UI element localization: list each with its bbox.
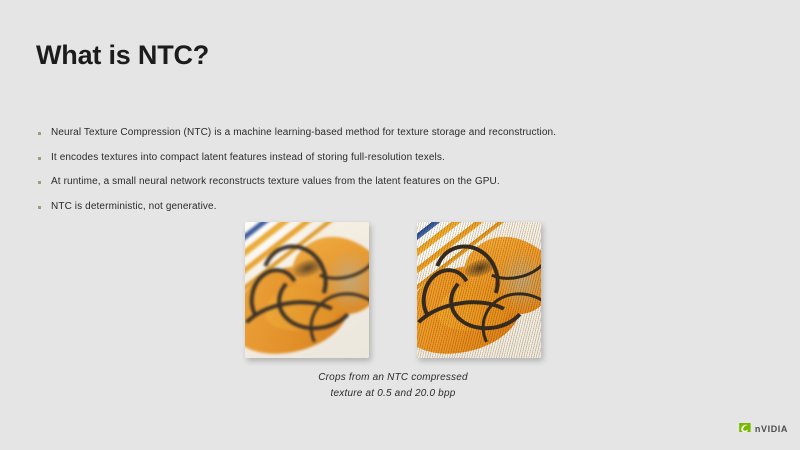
nvidia-wordmark: nVIDIA xyxy=(755,425,788,434)
figure-image-pair xyxy=(245,222,541,358)
bullet-list: Neural Texture Compression (NTC) is a ma… xyxy=(38,126,738,224)
presentation-slide: What is NTC? Neural Texture Compression … xyxy=(0,0,800,450)
bullet-marker-icon xyxy=(38,181,41,184)
figure-caption-line-2: texture at 0.5 and 20.0 bpp xyxy=(245,386,541,402)
bullet-marker-icon xyxy=(38,206,41,209)
brush-striations xyxy=(417,222,541,358)
bullet-text: NTC is deterministic, not generative. xyxy=(51,200,217,213)
list-item: Neural Texture Compression (NTC) is a ma… xyxy=(38,126,738,139)
figure-caption: Crops from an NTC compressed texture at … xyxy=(245,370,541,402)
figure-caption-line-1: Crops from an NTC compressed xyxy=(245,370,541,386)
texture-crop-high-bitrate xyxy=(417,222,541,358)
list-item: At runtime, a small neural network recon… xyxy=(38,175,738,188)
bullet-marker-icon xyxy=(38,157,41,160)
texture-crop-low-bitrate xyxy=(245,222,369,358)
list-item: NTC is deterministic, not generative. xyxy=(38,200,738,213)
texture-render-high xyxy=(417,222,541,358)
bullet-text: It encodes textures into compact latent … xyxy=(51,151,445,164)
texture-render-low xyxy=(245,222,369,358)
bullet-text: At runtime, a small neural network recon… xyxy=(51,175,500,188)
list-item: It encodes textures into compact latent … xyxy=(38,151,738,164)
page-title: What is NTC? xyxy=(36,40,209,71)
bullet-marker-icon xyxy=(38,132,41,135)
nvidia-eye-icon xyxy=(738,420,752,438)
nvidia-logo: nVIDIA xyxy=(738,420,788,438)
bullet-text: Neural Texture Compression (NTC) is a ma… xyxy=(51,126,556,139)
